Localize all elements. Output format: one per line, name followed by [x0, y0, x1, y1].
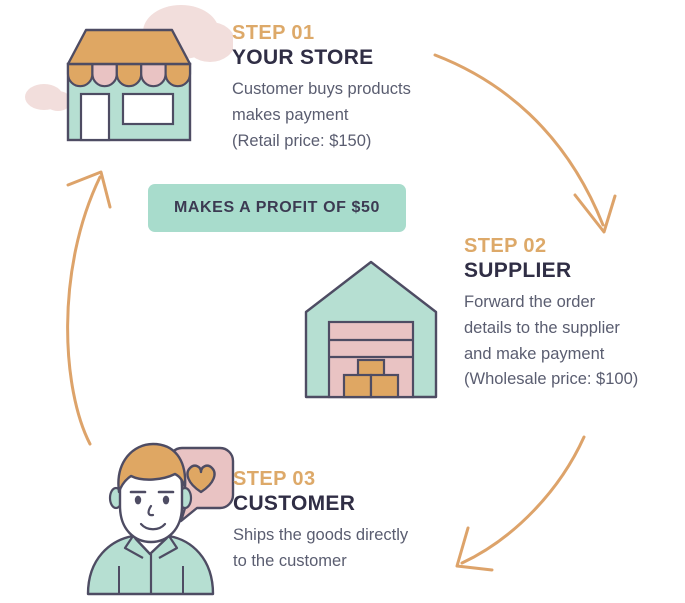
- step-01-title: YOUR STORE: [232, 46, 462, 71]
- step-01-eyebrow: STEP 01: [232, 22, 462, 44]
- customer-icon: [75, 436, 240, 598]
- warehouse-icon: [296, 254, 446, 402]
- infographic-canvas: STEP 01 YOUR STORE Customer buys product…: [0, 0, 685, 600]
- cloud-shape-left: [25, 84, 71, 111]
- profit-badge-label: MAKES A PROFIT OF $50: [174, 199, 380, 217]
- step-02-title: SUPPLIER: [464, 259, 679, 284]
- step-03-block: STEP 03 CUSTOMER Ships the goods directl…: [233, 468, 458, 575]
- step-02-block: STEP 02 SUPPLIER Forward the order detai…: [464, 235, 679, 393]
- step-03-eyebrow: STEP 03: [233, 468, 458, 490]
- storefront-icon: [18, 4, 233, 149]
- step-02-description: Forward the order details to the supplie…: [464, 290, 679, 393]
- step-03-title: CUSTOMER: [233, 492, 458, 517]
- step-01-description: Customer buys products makes payment (Re…: [232, 77, 462, 154]
- step-02-eyebrow: STEP 02: [464, 235, 679, 257]
- step-03-description: Ships the goods directly to the customer: [233, 523, 458, 574]
- profit-badge: MAKES A PROFIT OF $50: [148, 184, 406, 232]
- step-01-block: STEP 01 YOUR STORE Customer buys product…: [232, 22, 462, 154]
